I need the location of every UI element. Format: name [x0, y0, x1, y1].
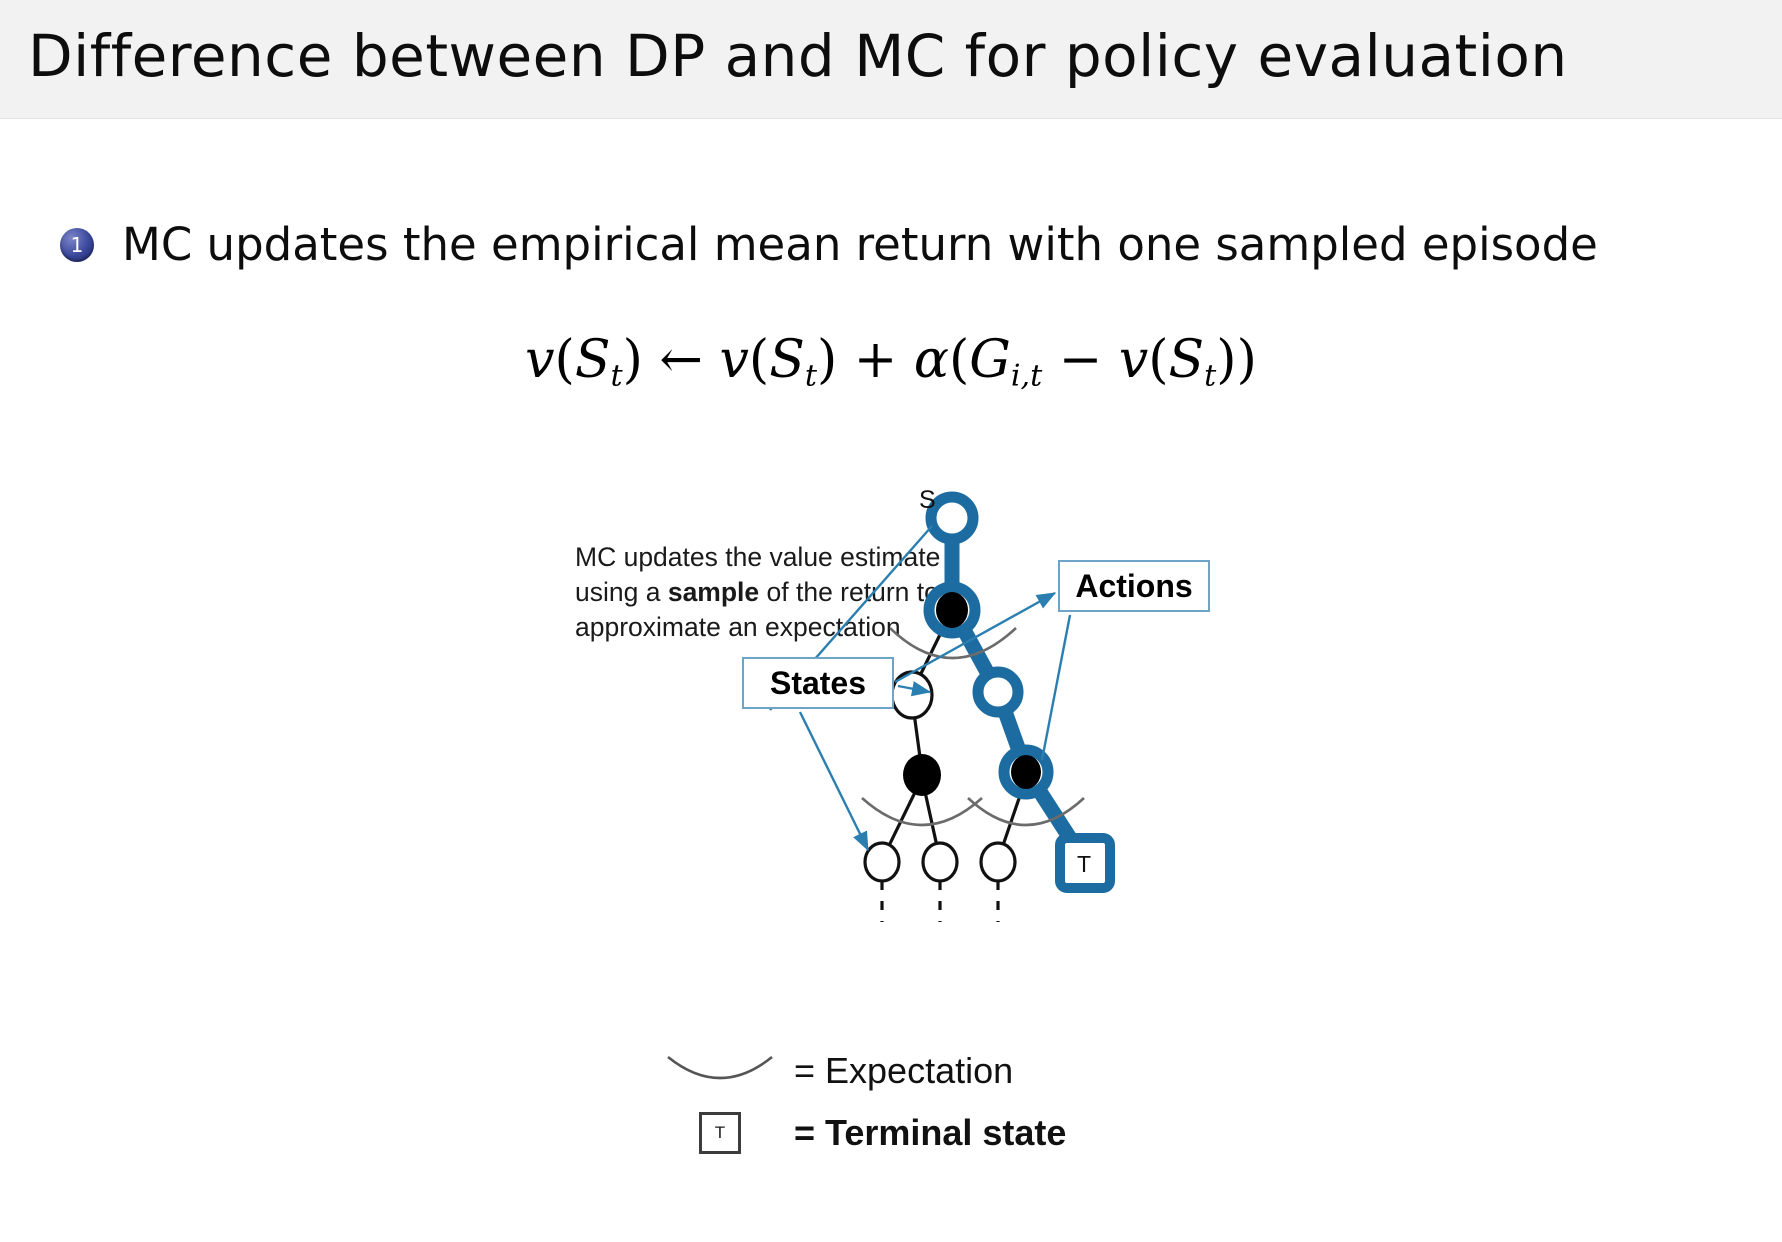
- value-update-formula: v(St) ← v(St) + α(Gi,t − v(St)): [0, 330, 1782, 393]
- leader-actions-to-sampled-action: [1042, 615, 1070, 760]
- formula-plus: +: [854, 330, 898, 390]
- formula-v1: v: [525, 330, 554, 390]
- terminal-state-node: T: [1060, 838, 1110, 888]
- legend-label-expectation: = Expectation: [794, 1050, 1013, 1092]
- formula-sub-t3: t: [1204, 358, 1216, 393]
- leaf-state-node-1: [865, 843, 899, 881]
- formula-close-paren-5: ): [1237, 330, 1257, 390]
- formula-sub-t2: t: [805, 358, 817, 393]
- formula-sub-t1: t: [610, 358, 622, 393]
- bullet-number-badge: 1: [60, 228, 94, 262]
- formula-S1: S: [575, 330, 611, 390]
- formula-open-paren-1: (: [555, 330, 575, 390]
- expectation-arc-bottom-left: [862, 798, 982, 825]
- leaf-state-node-2: [923, 843, 957, 881]
- formula-close-paren-2: ): [817, 330, 837, 390]
- formula-S2: S: [769, 330, 805, 390]
- bullet-text: MC updates the empirical mean return wit…: [122, 218, 1598, 271]
- terminal-square-icon: T: [660, 1112, 780, 1154]
- mc-backup-diagram: MC updates the value estimate using a sa…: [470, 460, 1330, 1040]
- legend-label-terminal-state: = Terminal state: [794, 1112, 1066, 1154]
- page-title: Difference between DP and MC for policy …: [28, 22, 1568, 90]
- state-node-left: [892, 672, 932, 718]
- terminal-square-letter: T: [699, 1112, 741, 1154]
- backup-diagram-svg: S T: [470, 460, 1330, 1040]
- formula-close-paren-1: ): [623, 330, 643, 390]
- formula-sub-it: i,t: [1011, 358, 1042, 393]
- legend-item-terminal-state: T = Terminal state: [660, 1102, 1360, 1164]
- root-state-label: S: [919, 486, 936, 514]
- slide-title-bar: Difference between DP and MC for policy …: [0, 0, 1782, 119]
- formula-v2: v: [720, 330, 749, 390]
- legend-item-expectation: = Expectation: [660, 1040, 1360, 1102]
- formula-minus: −: [1059, 330, 1103, 390]
- sampled-state-node-2: [978, 672, 1018, 712]
- diagram-legend: = Expectation T = Terminal state: [660, 1040, 1360, 1164]
- formula-G: G: [969, 330, 1011, 390]
- formula-open-paren-3: (: [949, 330, 969, 390]
- formula-v3: v: [1119, 330, 1148, 390]
- formula-close-paren-4: ): [1216, 330, 1236, 390]
- continuation-dashes: [882, 881, 998, 922]
- formula-open-paren-4: (: [1148, 330, 1168, 390]
- formula-left-arrow: ←: [659, 330, 703, 390]
- root-state-node: [931, 497, 973, 539]
- expectation-arc-icon: [660, 1051, 780, 1091]
- terminal-state-label: T: [1077, 851, 1091, 877]
- formula-S3: S: [1169, 330, 1205, 390]
- leaf-state-node-3: [981, 843, 1015, 881]
- sampled-action-node-2: [1011, 755, 1041, 789]
- action-node-left: [903, 754, 941, 796]
- sampled-action-node-1: [936, 592, 968, 628]
- callout-states: States: [742, 657, 894, 709]
- formula-alpha: α: [914, 330, 949, 390]
- formula-open-paren-2: (: [749, 330, 769, 390]
- leader-states-to-leaf: [800, 712, 868, 850]
- bullet-item: 1 MC updates the empirical mean return w…: [60, 218, 1598, 271]
- callout-actions: Actions: [1058, 560, 1210, 612]
